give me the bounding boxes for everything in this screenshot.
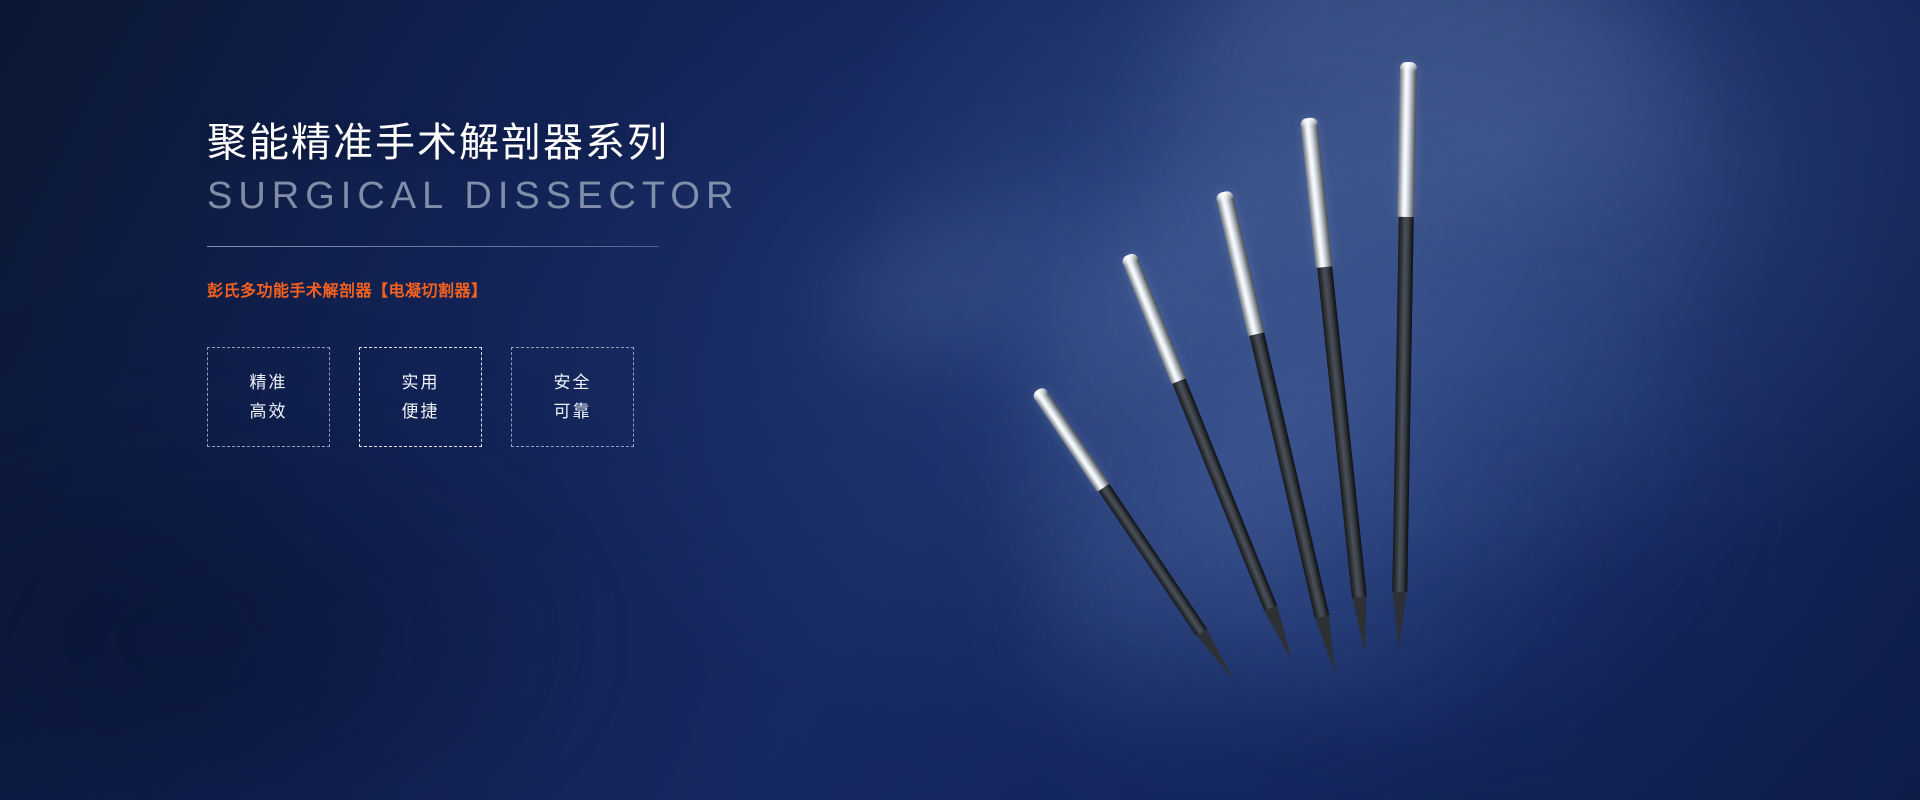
page-subtitle-english: SURGICAL DISSECTOR	[207, 174, 967, 220]
feature-line-1: 安全	[554, 374, 592, 391]
feature-box-2[interactable]: 实用便捷	[359, 347, 482, 447]
instrument-handle	[1215, 190, 1264, 336]
instrument-tip	[1315, 615, 1342, 675]
instrument-tip	[1196, 630, 1238, 685]
instrument-tip	[1352, 597, 1372, 656]
instrument-shaft	[1172, 378, 1277, 610]
instrument-handle	[1300, 117, 1333, 268]
product-name-label: 彭氏多功能手术解剖器【电凝切割器】	[207, 277, 967, 301]
hero-banner: 聚能精准手术解剖器系列 SURGICAL DISSECTOR 彭氏多功能手术解剖…	[0, 0, 1920, 800]
instrument-shaft	[1098, 484, 1207, 636]
feature-line-1: 实用	[402, 374, 440, 391]
instrument-tip	[1391, 592, 1406, 650]
dissector-probe-5	[1390, 62, 1417, 652]
page-title: 聚能精准手术解剖器系列	[207, 118, 967, 168]
feature-box-1[interactable]: 精准高效	[207, 347, 330, 447]
instrument-shaft	[1392, 217, 1414, 592]
instrument-handle	[1031, 386, 1109, 492]
feature-box-3[interactable]: 安全可靠	[511, 347, 634, 447]
dissector-probe-1	[1031, 386, 1241, 687]
title-divider	[207, 246, 659, 247]
feature-line-2: 高效	[250, 403, 288, 420]
feature-line-2: 可靠	[554, 403, 592, 420]
instrument-tip	[1264, 606, 1299, 665]
dissector-probe-2	[1121, 252, 1301, 667]
banner-content: 聚能精准手术解剖器系列 SURGICAL DISSECTOR 彭氏多功能手术解剖…	[207, 118, 967, 447]
feature-box-group: 精准高效实用便捷安全可靠	[207, 347, 967, 447]
instrument-shaft	[1317, 266, 1367, 598]
instrument-handle	[1397, 62, 1417, 217]
feature-line-1: 精准	[250, 374, 288, 391]
instrument-illustration-group	[940, 0, 1920, 800]
feature-line-2: 便捷	[402, 403, 440, 420]
instrument-handle	[1121, 252, 1187, 384]
